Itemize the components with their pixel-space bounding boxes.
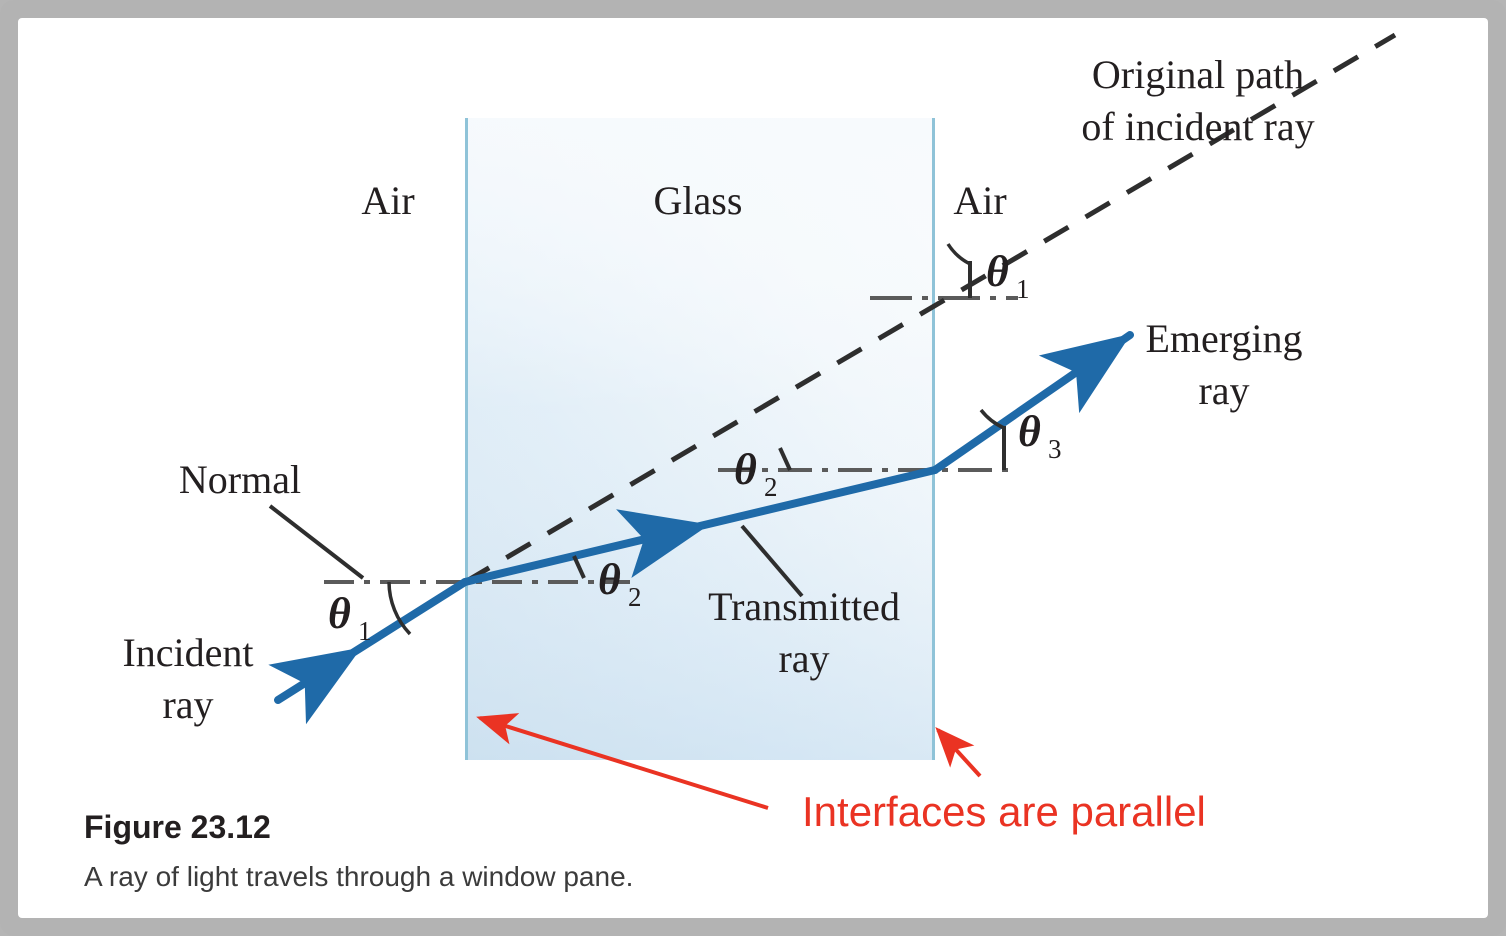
theta3-symbol: θ	[1018, 407, 1041, 456]
theta2-entry-symbol: θ	[598, 555, 621, 604]
theta3-arc	[981, 410, 1004, 428]
red-arrow-to-right-interface	[938, 730, 980, 776]
annotation-interfaces-parallel: Interfaces are parallel	[802, 788, 1206, 835]
theta2-exit-subscript: 2	[764, 472, 778, 502]
label-air-left: Air	[361, 178, 414, 223]
figure-caption-body: A ray of light travels through a window …	[84, 861, 633, 892]
label-air-right: Air	[953, 178, 1006, 223]
theta3-subscript: 3	[1048, 434, 1062, 464]
normal-label-leader	[270, 506, 363, 578]
figure-page: Air Glass Air Original path of incident …	[18, 18, 1488, 918]
angle-label-theta1-entry: θ 1	[328, 589, 372, 646]
figure-frame: Air Glass Air Original path of incident …	[0, 0, 1506, 936]
theta2-exit-symbol: θ	[734, 445, 757, 494]
theta1-entry-symbol: θ	[328, 589, 351, 638]
figure-caption-title: Figure 23.12	[84, 809, 271, 845]
label-emerging-ray-line2: ray	[1198, 368, 1249, 413]
theta2-entry-subscript: 2	[628, 582, 642, 612]
label-original-path-line2: of incident ray	[1081, 104, 1314, 149]
label-transmitted-ray-line2: ray	[778, 636, 829, 681]
label-normal: Normal	[179, 457, 301, 502]
label-glass: Glass	[654, 178, 743, 223]
label-original-path-line1: Original path	[1092, 52, 1304, 97]
refraction-diagram: Air Glass Air Original path of incident …	[18, 18, 1488, 918]
label-incident-ray-line2: ray	[162, 682, 213, 727]
theta1-top-arc	[948, 244, 970, 264]
label-incident-ray-line1: Incident	[122, 630, 253, 675]
theta1-entry-subscript: 1	[358, 616, 372, 646]
incident-ray-arrow	[318, 656, 348, 675]
theta1-top-symbol: θ	[986, 247, 1009, 296]
angle-label-theta3: θ 3	[1018, 407, 1062, 464]
theta1-top-subscript: 1	[1016, 274, 1030, 304]
emerging-ray-arrow	[1078, 343, 1118, 371]
label-emerging-ray-line1: Emerging	[1145, 316, 1302, 361]
label-transmitted-ray-line1: Transmitted	[708, 584, 900, 629]
incident-ray-segment	[278, 582, 465, 700]
